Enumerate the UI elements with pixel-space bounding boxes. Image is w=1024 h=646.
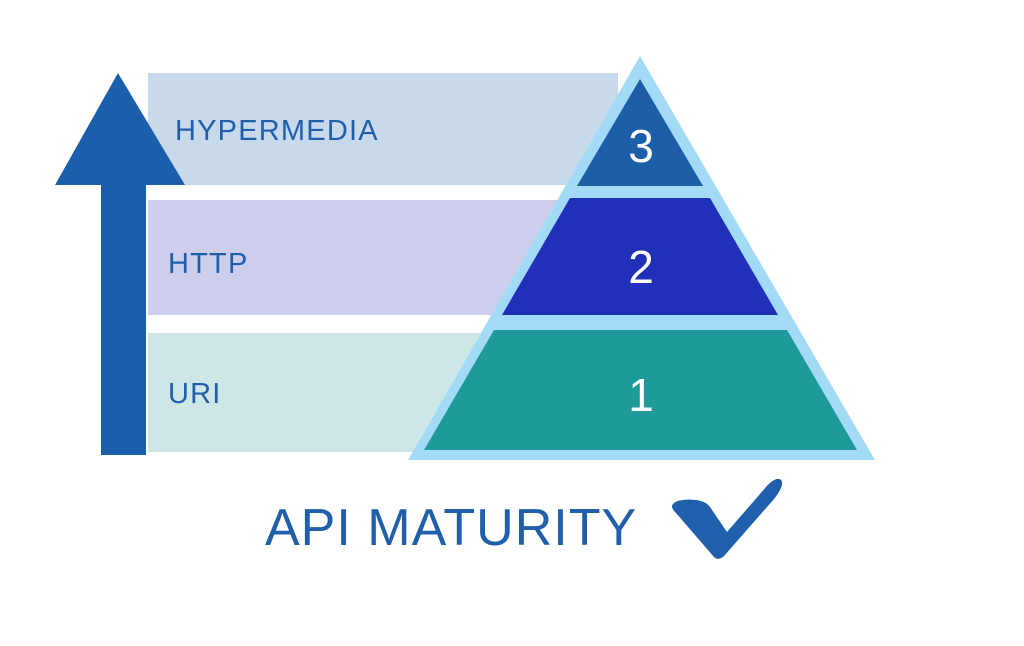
- tier-1-number: 1: [628, 369, 654, 421]
- level-label-http: HTTP: [168, 248, 249, 280]
- pyramid-tier-1[interactable]: 1: [424, 330, 857, 450]
- check-mark-icon: [672, 479, 782, 559]
- page-title: API MATURITY: [265, 499, 637, 557]
- tier-2-number: 2: [628, 241, 654, 293]
- level-label-hypermedia: HYPERMEDIA: [175, 115, 379, 147]
- api-maturity-figure: 3 2 1 HYPERMEDIA HTTP URI API MATURITY: [0, 0, 1024, 646]
- infographic-canvas: 3 2 1 HYPERMEDIA HTTP URI API MATURITY: [0, 0, 1024, 646]
- tier-3-number: 3: [628, 120, 654, 172]
- level-label-uri: URI: [168, 378, 222, 410]
